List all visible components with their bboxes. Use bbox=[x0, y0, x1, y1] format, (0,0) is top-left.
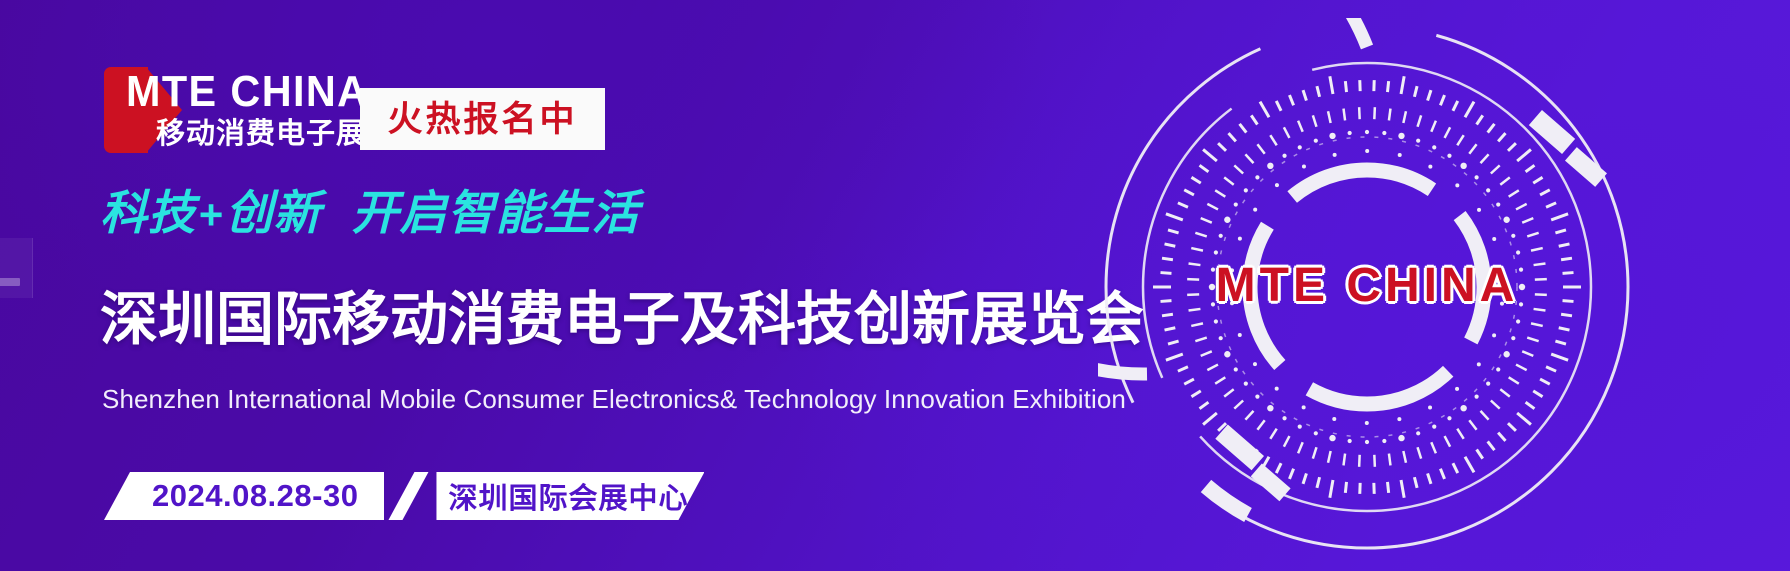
logo-chinese-text: 移动消费电子展 bbox=[156, 120, 366, 149]
event-date: 2024.08.28-30 bbox=[104, 472, 384, 520]
registration-badge[interactable]: 火热报名中 bbox=[360, 88, 605, 150]
slogan-part3: 开启智能生活 bbox=[352, 186, 640, 239]
slogan-part1: 科技 bbox=[100, 186, 196, 239]
logo-english-text: MTE CHINA bbox=[126, 70, 368, 114]
logo-mark: MTE CHINA 移动消费电子展 bbox=[104, 62, 342, 162]
page-title: 深圳国际移动消费电子及科技创新展览会 bbox=[100, 288, 1144, 353]
banner-left-content: MTE CHINA 移动消费电子展 火热报名中 科技+创新开启智能生活 深圳国际… bbox=[0, 0, 1060, 571]
slogan-part2: 创新 bbox=[226, 186, 322, 239]
brand-logo[interactable]: MTE CHINA 移动消费电子展 bbox=[104, 62, 342, 162]
page-subtitle: Shenzhen International Mobile Consumer E… bbox=[102, 384, 1126, 415]
event-banner: MTE CHINA 移动消费电子展 火热报名中 科技+创新开启智能生活 深圳国际… bbox=[0, 0, 1790, 571]
slogan: 科技+创新开启智能生活 bbox=[100, 186, 640, 240]
registration-badge-label: 火热报名中 bbox=[387, 102, 577, 137]
event-info-bar: 2024.08.28-30 深圳国际会展中心 bbox=[104, 472, 704, 520]
chip-separator-icon bbox=[384, 472, 436, 520]
slogan-plus: + bbox=[196, 191, 226, 238]
event-venue: 深圳国际会展中心 bbox=[436, 472, 704, 520]
tech-circle-emblem: MTE CHINA bbox=[1098, 18, 1636, 556]
